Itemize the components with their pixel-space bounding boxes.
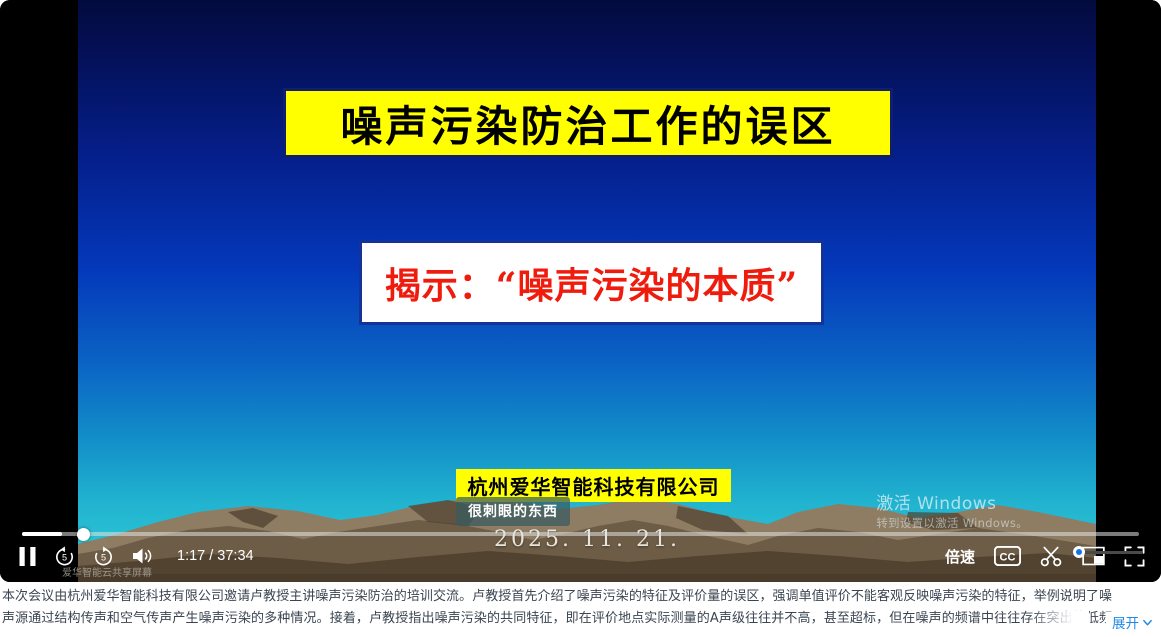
video-description: 本次会议由杭州爱华智能科技有限公司邀请卢教授主讲噪声污染防治的培训交流。卢教授首… [0, 582, 1161, 637]
slide-subtitle: 揭示：“噪声污染的本质” [385, 257, 798, 309]
video-slide: 噪声污染防治工作的误区 揭示：“噪声污染的本质” 杭州爱华智能科技有限公司 20… [78, 0, 1096, 582]
captions-cc-icon[interactable]: CC [994, 546, 1021, 566]
svg-text:CC: CC [1000, 551, 1016, 563]
expand-label: 展开 [1112, 612, 1139, 632]
svg-text:5: 5 [62, 552, 67, 562]
letterbox-right [1096, 0, 1161, 582]
slide-subtitle-box: 揭示：“噪声污染的本质” [359, 240, 824, 325]
description-text: 本次会议由杭州爱华智能科技有限公司邀请卢教授主讲噪声污染防治的培训交流。卢教授首… [2, 586, 1112, 632]
volume-slider[interactable] [1073, 546, 1143, 558]
description-fade [1029, 611, 1089, 631]
pause-button[interactable] [18, 546, 37, 567]
player-controls[interactable]: 5 5 1:17 / 37:34 爱华智能云共享屏幕 [0, 522, 1161, 582]
svg-text:5: 5 [101, 552, 106, 562]
danmaku-text: 很刺眼的东西 [468, 504, 558, 520]
volume-icon[interactable] [131, 546, 155, 566]
chevron-down-icon [1142, 617, 1153, 628]
scissors-clip-icon[interactable] [1040, 546, 1063, 567]
letterbox-left [0, 0, 78, 582]
expand-description-button[interactable]: 展开 [1106, 612, 1153, 632]
slide-title-banner: 噪声污染防治工作的误区 [283, 88, 893, 158]
volume-track[interactable] [1077, 551, 1143, 554]
video-player[interactable]: 噪声污染防治工作的误区 揭示：“噪声污染的本质” 杭州爱华智能科技有限公司 20… [0, 0, 1161, 582]
playback-speed-button[interactable]: 倍速 [945, 546, 975, 567]
volume-handle[interactable] [1073, 546, 1085, 558]
slide-company-name: 杭州爱华智能科技有限公司 [468, 471, 720, 500]
slide-title: 噪声污染防治工作的误区 [340, 93, 835, 154]
time-display: 1:17 / 37:34 [177, 548, 254, 564]
screen-share-watermark: 爱华智能云共享屏幕 [62, 564, 152, 579]
